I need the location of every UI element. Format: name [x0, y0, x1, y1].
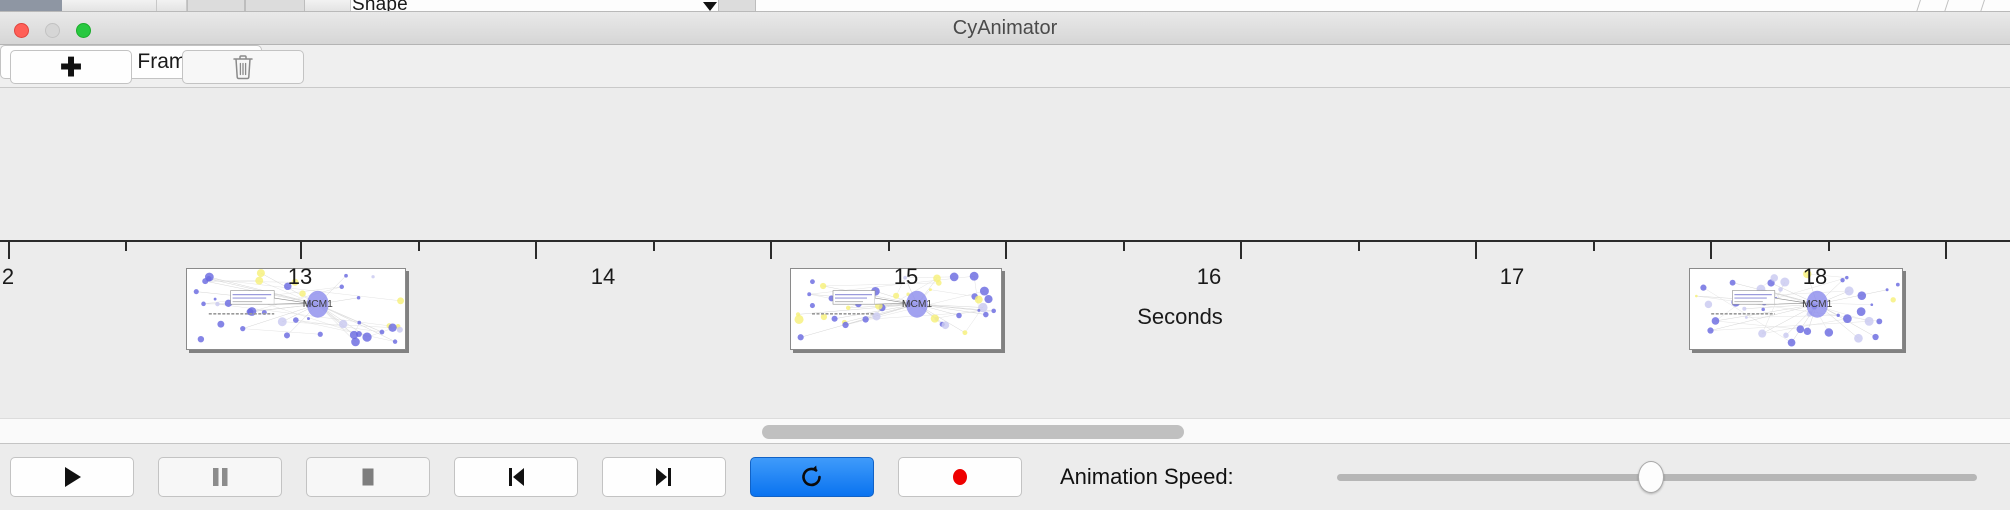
- axis-tick-label: 17: [1500, 264, 1524, 290]
- background-tab-3: [305, 0, 351, 12]
- axis-tick-major: [1710, 242, 1712, 259]
- pause-button[interactable]: [158, 457, 282, 497]
- playback-controls: Animation Speed:: [0, 444, 2010, 510]
- axis-tick-label: 14: [591, 264, 615, 290]
- scrollbar-thumb[interactable]: [762, 425, 1184, 439]
- pause-icon: [207, 464, 233, 490]
- stop-button[interactable]: [306, 457, 430, 497]
- loop-button[interactable]: [750, 457, 874, 497]
- axis-tick-major: [1945, 242, 1947, 259]
- play-button[interactable]: [10, 457, 134, 497]
- background-divider-3: [1980, 0, 1985, 12]
- axis-tick-label: 13: [288, 264, 312, 290]
- timeline-scrollbar[interactable]: [0, 418, 2010, 444]
- axis-tick-major: [1005, 242, 1007, 259]
- background-window-strip: Shape: [0, 0, 2010, 12]
- background-tab-1: [62, 0, 157, 12]
- background-divider-1: [1916, 0, 1921, 12]
- play-icon: [59, 464, 85, 490]
- skip-back-button[interactable]: [454, 457, 578, 497]
- timeline-frame-thumbnail[interactable]: MCM1: [1689, 268, 1903, 350]
- skip-forward-button[interactable]: [602, 457, 726, 497]
- axis-tick-label: 18: [1803, 264, 1827, 290]
- window-title: CyAnimator: [0, 12, 2010, 45]
- background-box-1: [187, 0, 245, 12]
- timeline-panel[interactable]: MCM1 MCM1 MCM1 2131415161718 Seconds: [0, 88, 2010, 418]
- trash-icon: [232, 54, 254, 80]
- axis-tick-minor: [125, 242, 127, 251]
- axis-tick-minor: [888, 242, 890, 251]
- delete-frame-button[interactable]: [182, 50, 304, 84]
- axis-title: Seconds: [1137, 304, 1223, 330]
- background-divider-2: [1944, 0, 1949, 12]
- svg-text:MCM1: MCM1: [902, 299, 932, 310]
- axis-tick-minor: [1123, 242, 1125, 251]
- skip-back-icon: [503, 464, 529, 490]
- axis-tick-major: [770, 242, 772, 259]
- axis-tick-major: [1475, 242, 1477, 259]
- background-box-2: [245, 0, 305, 12]
- background-dark-block: [0, 0, 62, 12]
- axis-tick-minor: [418, 242, 420, 251]
- axis-tick-minor: [1358, 242, 1360, 251]
- axis-tick-major: [300, 242, 302, 259]
- stop-icon: [355, 464, 381, 490]
- axis-tick-minor: [1593, 242, 1595, 251]
- record-button[interactable]: [898, 457, 1022, 497]
- animation-speed-thumb[interactable]: [1638, 461, 1664, 493]
- plus-icon: ✚: [60, 54, 82, 80]
- toolbar: ✚ Clear All Frames: [0, 45, 2010, 88]
- cyanimator-window: Shape CyAnimator ✚ Clear All Frames: [0, 0, 2010, 510]
- svg-text:MCM1: MCM1: [1802, 299, 1832, 310]
- skip-forward-icon: [651, 464, 677, 490]
- loop-icon: [799, 464, 825, 490]
- axis-tick-label: 16: [1197, 264, 1221, 290]
- add-frame-button[interactable]: ✚: [10, 50, 132, 84]
- axis-tick-major: [8, 242, 10, 259]
- axis-tick-minor: [653, 242, 655, 251]
- axis-tick-major: [535, 242, 537, 259]
- background-tab-2: [157, 0, 187, 12]
- background-window-label: Shape: [352, 0, 408, 12]
- axis-tick-minor: [1828, 242, 1830, 251]
- animation-speed-label: Animation Speed:: [1060, 457, 1234, 497]
- axis-tick-label: 15: [894, 264, 918, 290]
- svg-text:MCM1: MCM1: [303, 299, 333, 310]
- background-box-3: [718, 0, 756, 12]
- record-icon: [947, 464, 973, 490]
- background-caret-icon: [703, 2, 717, 11]
- title-bar[interactable]: CyAnimator: [0, 12, 2010, 45]
- axis-tick-major: [1240, 242, 1242, 259]
- axis-tick-label: 2: [2, 264, 14, 290]
